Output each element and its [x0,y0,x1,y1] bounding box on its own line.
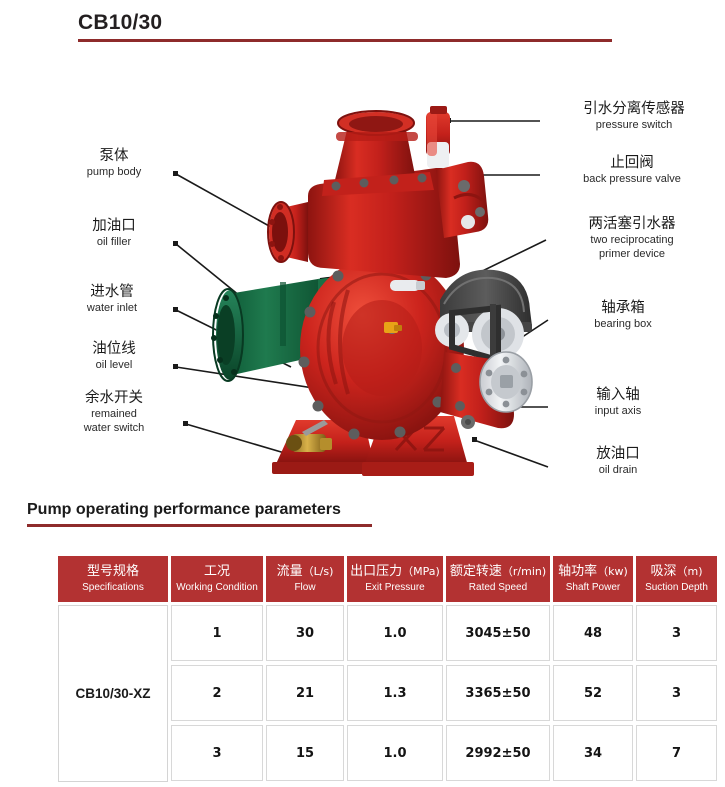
column-flow: 30 21 15 [266,605,344,782]
callout-pump-body: 泵体 pump body [62,147,166,179]
callout-primer-device: 两活塞引水器 two reciprocating primer device [548,215,716,261]
callout-input-axis: 输入轴 input axis [548,386,688,418]
callout-water-inlet: 进水管 water inlet [58,283,166,315]
callout-cn-label: 两活塞引水器 [548,215,716,233]
callout-oil-filler: 加油口 oil filler [62,217,166,249]
callout-oil-drain: 放油口 oil drain [548,445,688,477]
column-rated-speed: 3045±50 3365±50 2992±50 [446,605,550,782]
th-unit: （MPa) [402,565,440,578]
table-cell: 3 [636,605,717,661]
th-suction-depth: 吸深（m) Suction Depth [636,556,717,602]
callout-cn-label: 泵体 [62,147,166,165]
table-header-row: 型号规格 Specifications 工况 Working Condition… [58,556,678,602]
table-cell: 3 [636,665,717,721]
callout-en-label: bearing box [548,317,698,331]
oil-drain-plug [461,415,475,429]
callout-oil-level: 油位线 oil level [62,340,166,372]
callout-en-label: remained [52,407,176,421]
input-axis-flange [480,352,532,412]
pump-body-flange [268,202,308,262]
table-cell: 2 [171,665,263,721]
cell-specification-merged: CB10/30-XZ [58,605,168,782]
callout-cn-label: 放油口 [548,445,688,463]
drain-nipple [390,280,425,291]
th-shaft-power: 轴功率（kw) Shaft Power [553,556,633,602]
th-unit: （m) [677,565,703,578]
page-header: CB10/30 [78,10,612,42]
pump-discharge-head [268,106,488,278]
th-flow: 流量（L/s) Flow [266,556,344,602]
callout-cn-label: 油位线 [62,340,166,358]
th-en-label: Exit Pressure [365,581,424,594]
back-pressure-valve [426,106,450,168]
th-rated-speed: 额定转速（r/min) Rated Speed [446,556,550,602]
th-en-label: Flow [294,581,315,594]
th-cn-label: 额定转速 [450,564,502,579]
callout-cn-label: 引水分离传感器 [548,100,720,118]
callout-cn-label: 轴承箱 [548,299,698,317]
table-cell: 21 [266,665,344,721]
th-unit: （L/s) [303,565,334,578]
th-en-label: Shaft Power [566,581,620,594]
callout-en-label: water inlet [58,301,166,315]
section-header: Pump operating performance parameters [27,500,372,527]
table-cell: 1.0 [347,725,443,781]
column-shaft-power: 48 52 34 [553,605,633,782]
product-diagram: 泵体 pump body 加油口 oil filler 进水管 water in… [0,62,725,492]
callout-cn-label: 加油口 [62,217,166,235]
th-en-label: Suction Depth [645,581,708,594]
th-working-condition: 工况 Working Condition [171,556,263,602]
callout-cn-label: 进水管 [58,283,166,301]
table-cell: 3365±50 [446,665,550,721]
callout-en-label-line2: water switch [52,421,176,435]
table-cell: 2992±50 [446,725,550,781]
table-cell: 30 [266,605,344,661]
th-cn-label: 型号规格 [87,564,139,579]
callout-en-label: oil drain [548,463,688,477]
title-underline [78,39,612,42]
column-suction-depth: 3 3 7 [636,605,717,782]
table-cell: 3045±50 [446,605,550,661]
th-specifications: 型号规格 Specifications [58,556,168,602]
callout-en-label: oil level [62,358,166,372]
table-cell: 34 [553,725,633,781]
page-title: CB10/30 [78,10,612,36]
section-underline [27,524,372,527]
table-cell: 3 [171,725,263,781]
pump-illustration [168,76,548,496]
callout-cn-label: 余水开关 [52,389,176,407]
callout-en-label: oil filler [62,235,166,249]
th-cn-label: 工况 [204,564,230,579]
th-unit: （r/min) [502,565,546,578]
table-cell: 48 [553,605,633,661]
th-cn-label: 出口压力 [350,564,402,579]
th-unit: （kw) [597,565,628,578]
column-exit-pressure: 1.0 1.3 1.0 [347,605,443,782]
callout-pressure-switch: 引水分离传感器 pressure switch [548,100,720,132]
table-cell: 1 [171,605,263,661]
th-en-label: Working Condition [176,581,258,594]
column-working-condition: 1 2 3 [171,605,263,782]
table-cell: 15 [266,725,344,781]
table-cell: 52 [553,665,633,721]
callout-back-pressure-valve: 止回阀 back pressure valve [548,154,716,186]
th-exit-pressure: 出口压力（MPa) Exit Pressure [347,556,443,602]
table-data-columns: 1 2 3 30 21 15 1.0 1.3 1.0 3045±50 3365±… [171,605,717,782]
section-title: Pump operating performance parameters [27,500,372,520]
table-body: CB10/30-XZ 1 2 3 30 21 15 1.0 1.3 1.0 30… [58,605,678,782]
callout-en-label: pressure switch [548,118,720,132]
callout-en-label-line2: primer device [548,247,716,261]
primer-device [436,162,488,238]
table-cell: 1.0 [347,605,443,661]
th-en-label: Rated Speed [469,581,527,594]
th-cn-label: 吸深 [650,564,676,579]
th-cn-label: 流量 [277,564,303,579]
callout-cn-label: 止回阀 [548,154,716,172]
table-cell: 7 [636,725,717,781]
callout-bearing-box: 轴承箱 bearing box [548,299,698,331]
callout-en-label: back pressure valve [548,172,716,186]
callout-remained-water-switch: 余水开关 remained water switch [52,389,176,435]
callout-cn-label: 输入轴 [548,386,688,404]
callout-en-label: input axis [548,404,688,418]
callout-en-label: two reciprocating [548,233,716,247]
table-cell: 1.3 [347,665,443,721]
th-en-label: Specifications [82,581,144,594]
performance-table: 型号规格 Specifications 工况 Working Condition… [58,556,678,782]
callout-en-label: pump body [62,165,166,179]
th-cn-label: 轴功率 [558,564,597,579]
